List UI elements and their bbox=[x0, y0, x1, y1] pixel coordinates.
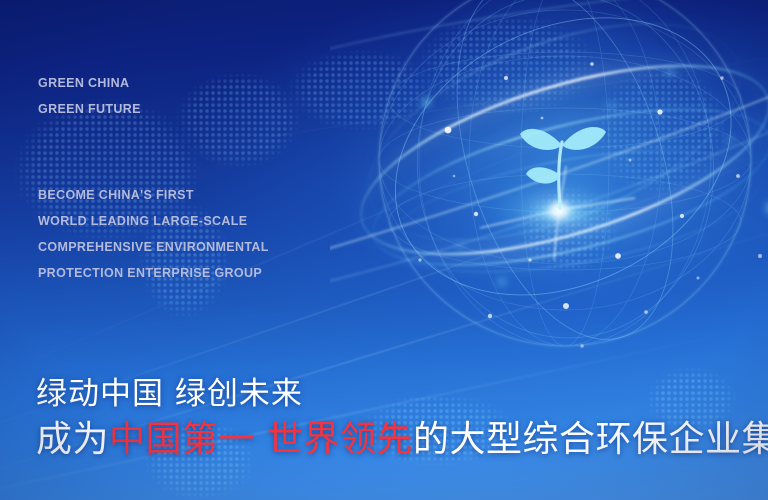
english-mission-line: PROTECTION ENTERPRISE GROUP bbox=[38, 260, 269, 286]
globe-graphic bbox=[330, 0, 768, 390]
english-mission-block: BECOME CHINA'S FIRST WORLD LEADING LARGE… bbox=[38, 182, 269, 286]
english-mission-line: WORLD LEADING LARGE-SCALE bbox=[38, 208, 269, 234]
english-tagline-block: GREEN CHINA GREEN FUTURE bbox=[38, 70, 141, 122]
headline-secondary: 成为中国第一 世界领先的大型综合环保企业集团 bbox=[36, 410, 768, 462]
headline-prefix: 成为 bbox=[36, 419, 109, 460]
english-tagline-line: GREEN FUTURE bbox=[38, 96, 141, 122]
headline-highlight: 中国第一 世界领先 bbox=[109, 419, 413, 460]
english-tagline-line: GREEN CHINA bbox=[38, 70, 141, 96]
english-mission-line: BECOME CHINA'S FIRST bbox=[38, 182, 269, 208]
hero-banner: GREEN CHINA GREEN FUTURE BECOME CHINA'S … bbox=[0, 0, 768, 500]
headline-suffix: 的大型综合环保企业集团 bbox=[413, 419, 768, 460]
headline-primary: 绿动中国 绿创未来 bbox=[36, 368, 303, 413]
english-mission-line: COMPREHENSIVE ENVIRONMENTAL bbox=[38, 234, 269, 260]
globe-svg bbox=[330, 0, 768, 390]
